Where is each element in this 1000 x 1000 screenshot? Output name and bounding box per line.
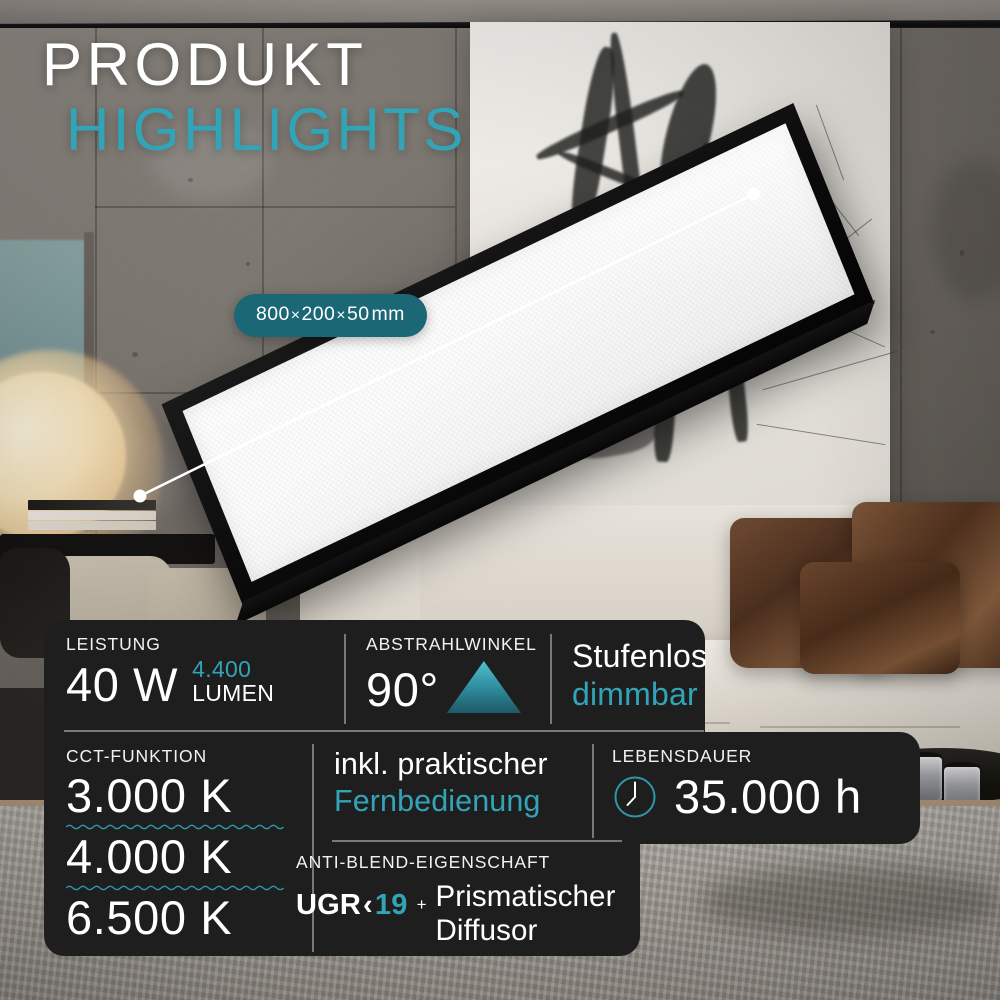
wall-speck bbox=[246, 262, 250, 266]
dimension-separator-1: × bbox=[290, 307, 302, 324]
headline-line-1: PRODUKT bbox=[42, 34, 467, 96]
dimming-line-1: Stufenlos bbox=[572, 638, 707, 676]
clock-icon bbox=[612, 774, 658, 820]
spec-power: LEISTUNG 40 W 4.400 LUMEN bbox=[66, 634, 274, 708]
spec-panel: LEISTUNG 40 W 4.400 LUMEN ABSTRAHLWINKEL… bbox=[44, 620, 924, 960]
divider-row-1 bbox=[64, 730, 704, 732]
cct-value-2: 4.000 K bbox=[66, 832, 284, 883]
lumen-unit: LUMEN bbox=[192, 682, 274, 705]
spec-lifetime: LEBENSDAUER 35.000 h bbox=[612, 746, 862, 820]
diffuser-line-2: Diffusor bbox=[436, 914, 616, 948]
remote-line-2: Fernbedienung bbox=[334, 783, 548, 820]
anti-glare-label: ANTI-BLEND-EIGENSCHAFT bbox=[296, 852, 616, 873]
dimension-badge: 800×200×50mm bbox=[234, 294, 427, 337]
lumen-group: 4.400 LUMEN bbox=[192, 658, 274, 708]
ugr-prefix: UGR bbox=[296, 889, 361, 921]
spec-beam-angle: ABSTRAHLWINKEL 90° bbox=[366, 634, 537, 713]
divider-remote-life bbox=[592, 744, 594, 838]
beam-cone-triangle-icon bbox=[447, 661, 521, 713]
wall-seam bbox=[95, 206, 455, 208]
cct-value-3: 6.500 K bbox=[66, 893, 284, 944]
dimension-depth: 200 bbox=[302, 303, 336, 325]
spec-remote: inkl. praktischer Fernbedienung bbox=[334, 746, 548, 819]
dimension-unit: mm bbox=[370, 303, 405, 325]
divider-beam-dim bbox=[550, 634, 552, 724]
spec-dimming: Stufenlos dimmbar bbox=[572, 638, 707, 714]
ugr-rating: UGR‹19 bbox=[296, 880, 408, 922]
wall-artwork bbox=[470, 22, 890, 522]
beam-angle-label: ABSTRAHLWINKEL bbox=[366, 634, 537, 655]
cct-value-1: 3.000 K bbox=[66, 771, 284, 822]
headline-line-2: HIGHLIGHTS bbox=[66, 96, 467, 163]
spec-anti-glare: ANTI-BLEND-EIGENSCHAFT UGR‹19 + Prismati… bbox=[296, 852, 616, 948]
dimension-separator-2: × bbox=[335, 307, 347, 324]
lifetime-label: LEBENSDAUER bbox=[612, 746, 862, 767]
divider-power-beam bbox=[344, 634, 346, 724]
lifetime-value: 35.000 h bbox=[674, 773, 862, 820]
wall-speck bbox=[930, 330, 935, 334]
ugr-operator: ‹ bbox=[361, 889, 375, 921]
dimming-line-2: dimmbar bbox=[572, 676, 707, 714]
wall-speck bbox=[408, 470, 413, 475]
diffuser-line-1: Prismatischer bbox=[436, 880, 616, 914]
lumen-value: 4.400 bbox=[192, 658, 274, 681]
diffuser-text: Prismatischer Diffusor bbox=[436, 880, 616, 948]
ugr-value: 19 bbox=[375, 889, 408, 921]
beam-angle-value: 90° bbox=[366, 666, 439, 713]
power-label: LEISTUNG bbox=[66, 634, 274, 655]
wall-speck bbox=[132, 352, 138, 357]
remote-line-1: inkl. praktischer bbox=[334, 746, 548, 783]
wall-speck bbox=[188, 178, 193, 182]
cct-label: CCT-FUNKTION bbox=[66, 746, 284, 767]
dimension-width: 800 bbox=[256, 303, 290, 325]
spec-cct: CCT-FUNKTION 3.000 K 4.000 K 6.500 K bbox=[66, 746, 284, 943]
divider-row-2 bbox=[332, 840, 622, 842]
dimension-height: 50 bbox=[347, 303, 370, 325]
book-stack bbox=[28, 500, 158, 534]
page-title: PRODUKT HIGHLIGHTS bbox=[42, 34, 467, 164]
plus-symbol: + bbox=[417, 880, 427, 915]
power-value: 40 W bbox=[66, 661, 178, 708]
wall-speck bbox=[960, 250, 964, 256]
